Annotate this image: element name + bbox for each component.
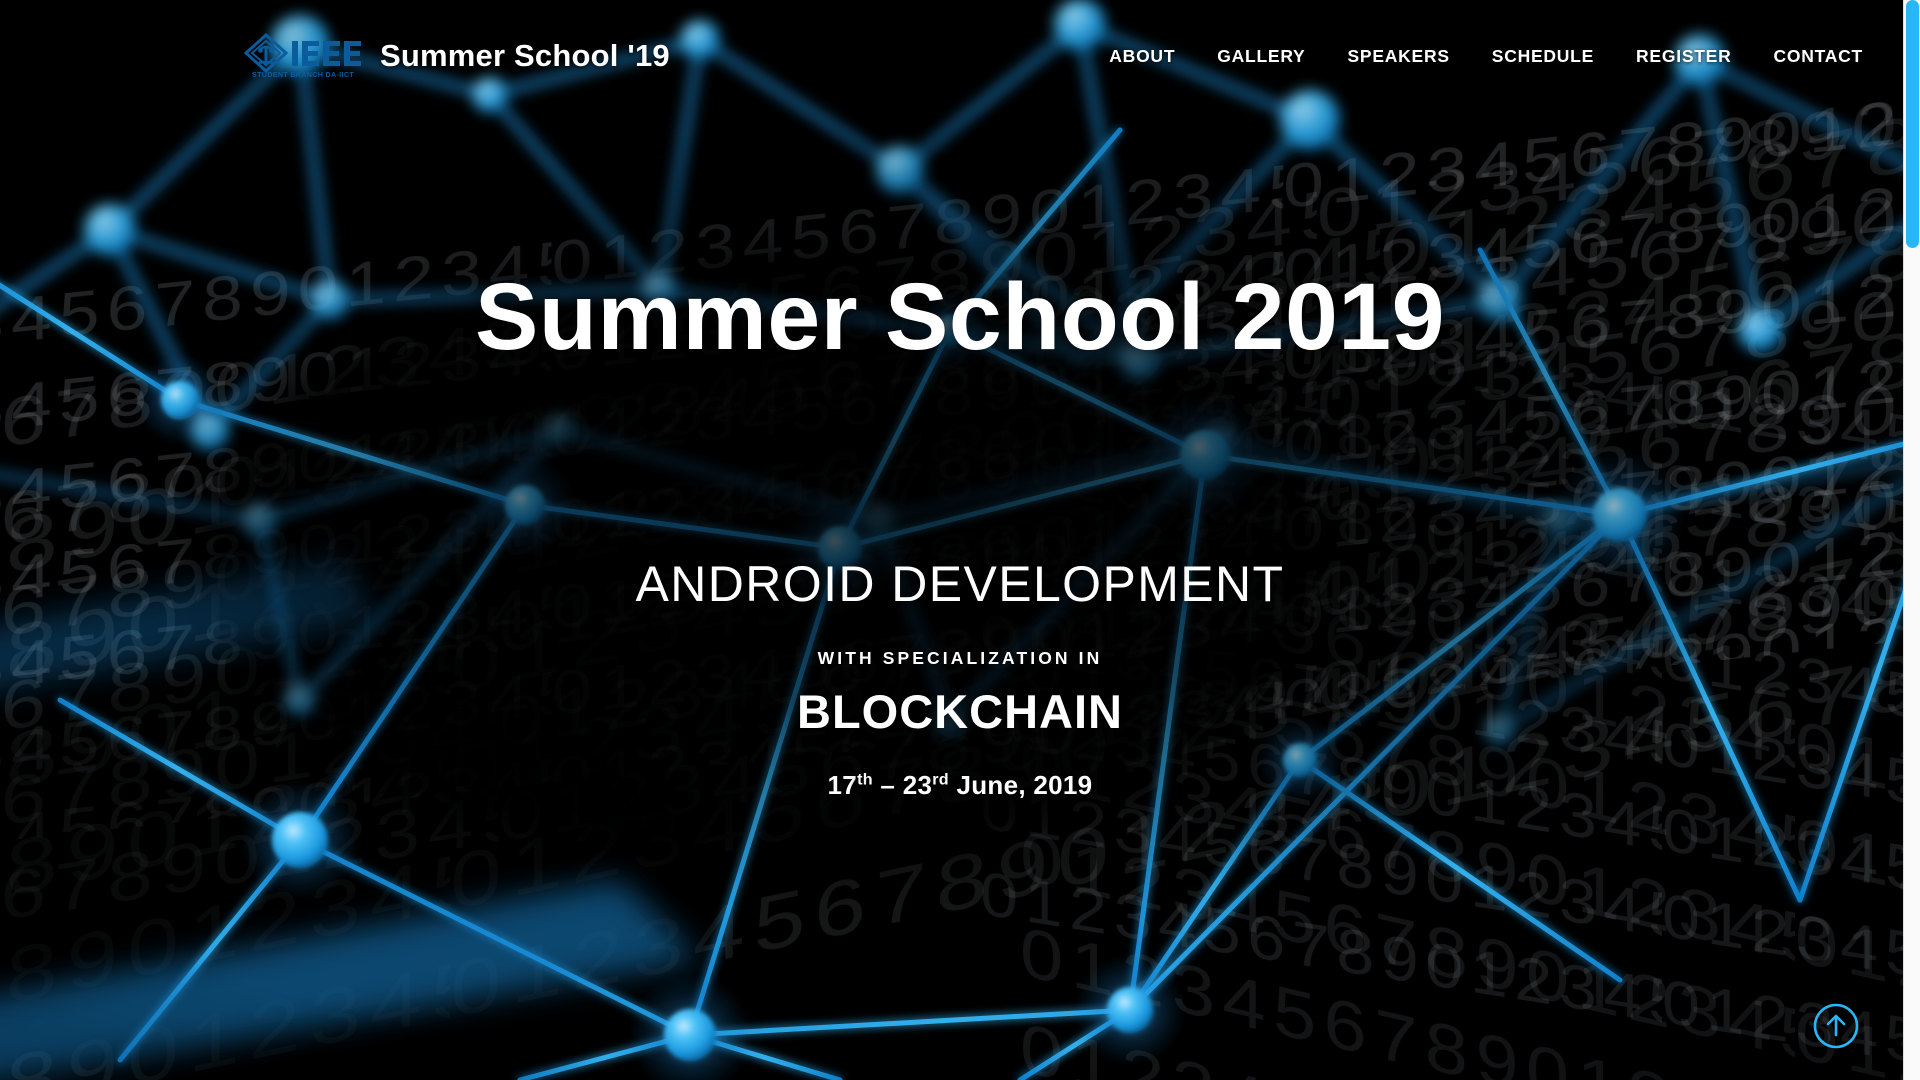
- hero-background-image: 0123456789012345: [0, 0, 1920, 1080]
- page-scrollbar[interactable]: [1903, 0, 1920, 1080]
- arrow-up-circle-icon: [1812, 1002, 1860, 1050]
- scroll-to-top-button[interactable]: [1812, 1002, 1860, 1050]
- page-root: 0123456789012345: [0, 0, 1920, 1080]
- main-navbar: STUDENT BRANCH DA-IICT Summer School '19…: [0, 0, 1920, 112]
- brand-link[interactable]: STUDENT BRANCH DA-IICT Summer School '19: [244, 33, 670, 79]
- ieee-logo: STUDENT BRANCH DA-IICT: [244, 33, 362, 79]
- nav-item-register: REGISTER: [1615, 36, 1752, 77]
- nav-links: ABOUT GALLERY SPEAKERS SCHEDULE REGISTER…: [1088, 36, 1884, 77]
- nav-item-contact: CONTACT: [1753, 36, 1885, 77]
- nav-link-contact[interactable]: CONTACT: [1753, 36, 1885, 77]
- nav-link-gallery[interactable]: GALLERY: [1196, 36, 1326, 77]
- nav-link-speakers[interactable]: SPEAKERS: [1326, 36, 1470, 77]
- nav-link-about[interactable]: ABOUT: [1088, 36, 1196, 77]
- nav-item-gallery: GALLERY: [1196, 36, 1326, 77]
- ieee-logo-subtitle: STUDENT BRANCH DA-IICT: [252, 70, 354, 79]
- nav-item-about: ABOUT: [1088, 36, 1196, 77]
- brand-title: Summer School '19: [380, 38, 670, 74]
- scrollbar-thumb[interactable]: [1906, 0, 1919, 248]
- nav-link-schedule[interactable]: SCHEDULE: [1471, 36, 1615, 77]
- nav-link-register[interactable]: REGISTER: [1615, 36, 1752, 77]
- nav-item-schedule: SCHEDULE: [1471, 36, 1615, 77]
- nav-item-speakers: SPEAKERS: [1326, 36, 1470, 77]
